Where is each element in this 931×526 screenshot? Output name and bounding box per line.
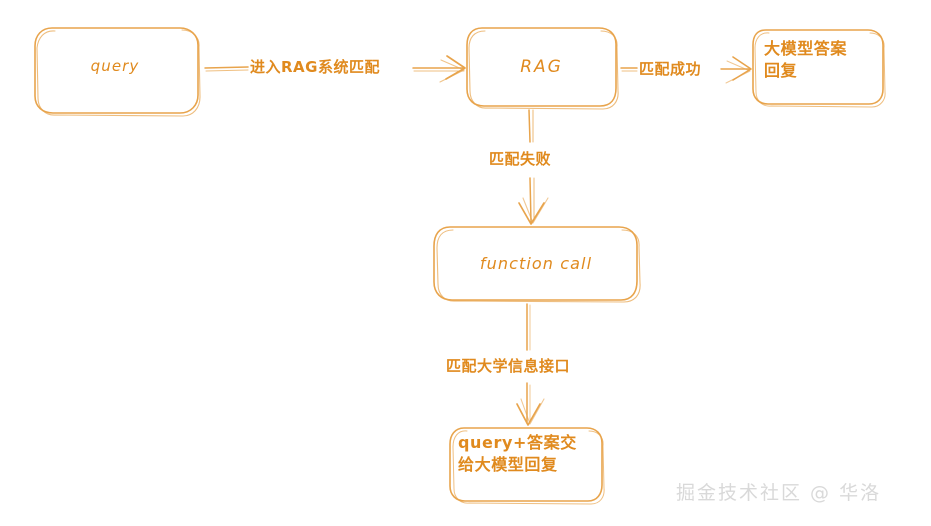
arrowhead-right-1 xyxy=(440,56,465,82)
node-function-call-shape[interactable] xyxy=(434,227,640,302)
edge-rag-to-function-call xyxy=(519,110,548,224)
flowchart-svg xyxy=(0,0,931,526)
node-rag-shape[interactable] xyxy=(467,28,618,109)
edge-query-to-rag xyxy=(205,56,465,82)
node-llm-shape[interactable] xyxy=(753,30,885,107)
edge-rag-to-llm xyxy=(621,57,751,83)
arrowhead-right-2 xyxy=(726,57,751,83)
diagram-canvas: query RAG 大模型答案 回复 function call query+答… xyxy=(0,0,931,526)
node-final-shape[interactable] xyxy=(450,428,604,504)
node-query-shape[interactable] xyxy=(35,28,200,116)
edge-function-call-to-final xyxy=(517,304,544,425)
